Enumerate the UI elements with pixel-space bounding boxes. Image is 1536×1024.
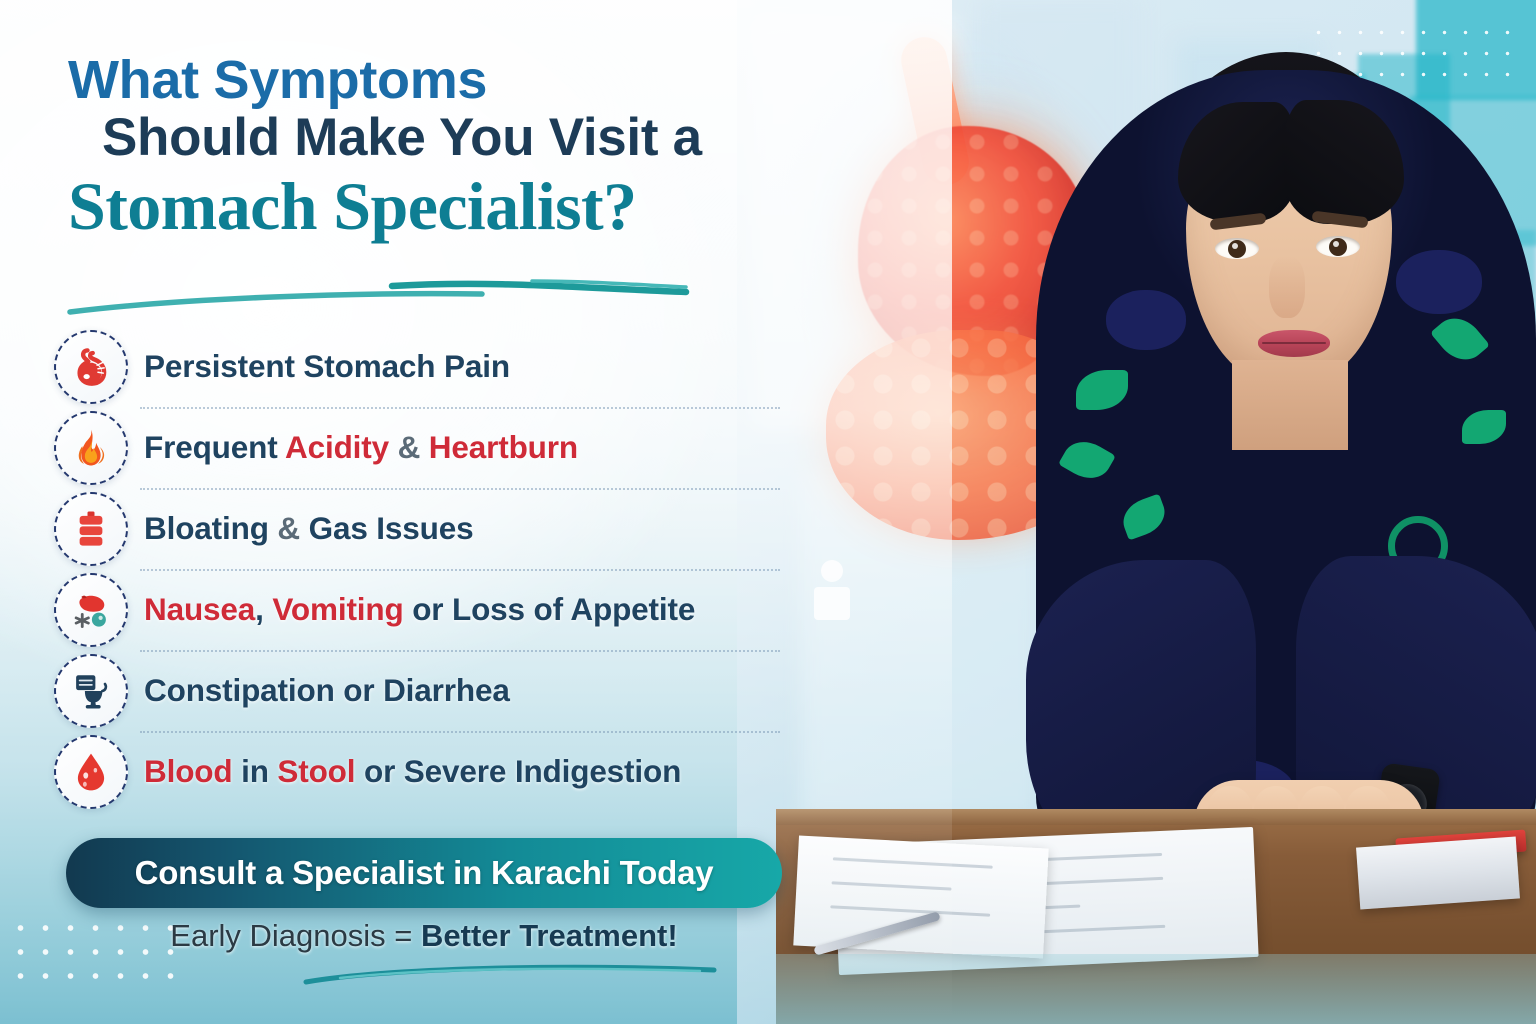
promo-banner: What Symptoms Should Make You Visit a St… — [0, 0, 1536, 1024]
lips — [1258, 330, 1330, 357]
scarf-motif — [1076, 370, 1128, 410]
symptom-row[interactable]: Persistent Stomach Pain — [54, 326, 814, 407]
tagline: Early Diagnosis = Better Treatment! — [66, 918, 782, 954]
symptom-row[interactable]: Bloating & Gas Issues — [54, 488, 814, 569]
consult-specialist-button[interactable]: Consult a Specialist in Karachi Today — [66, 838, 782, 908]
content-column: What Symptoms Should Make You Visit a St… — [0, 0, 830, 1024]
gas-cylinder-icon — [54, 492, 128, 566]
headline-underline-flourish — [62, 278, 692, 320]
symptom-row[interactable]: Constipation or Diarrhea — [54, 650, 814, 731]
headline-line-3: Stomach Specialist? — [68, 170, 828, 242]
iris — [1329, 238, 1347, 256]
scarf-motif — [1462, 410, 1506, 444]
tagline-strong: Better Treatment! — [421, 918, 678, 953]
headline-line-2: Should Make You Visit a — [102, 108, 828, 167]
headline-block: What Symptoms Should Make You Visit a St… — [68, 52, 828, 242]
symptom-label: Bloating & Gas Issues — [144, 510, 473, 547]
flame-icon — [54, 411, 128, 485]
iris — [1228, 240, 1246, 258]
symptom-list: Persistent Stomach Pain Frequent Acidity… — [54, 326, 814, 812]
blood-drop-icon — [54, 735, 128, 809]
lip-line — [1262, 342, 1326, 344]
cta-label: Consult a Specialist in Karachi Today — [135, 854, 714, 892]
tagline-flourish — [300, 962, 720, 988]
stomach-icon — [54, 330, 128, 404]
doctor-photo — [1026, 40, 1536, 940]
scarf-motif — [1058, 433, 1116, 487]
symptom-label: Blood in Stool or Severe Indigestion — [144, 753, 681, 790]
headline-line-1: What Symptoms — [68, 52, 828, 108]
nose — [1269, 256, 1305, 318]
scarf-motif — [1118, 494, 1171, 541]
symptom-row[interactable]: Blood in Stool or Severe Indigestion — [54, 731, 814, 812]
symptom-label: Constipation or Diarrhea — [144, 672, 510, 709]
eye-right — [1316, 236, 1360, 257]
symptom-row[interactable]: Nausea, Vomiting or Loss of Appetite — [54, 569, 814, 650]
symptom-row[interactable]: Frequent Acidity & Heartburn — [54, 407, 814, 488]
scarf-motif — [1106, 290, 1186, 350]
paper-stack — [1356, 836, 1520, 909]
tagline-light: Early Diagnosis = — [170, 918, 421, 953]
toilet-icon — [54, 654, 128, 728]
neck — [1232, 360, 1348, 450]
nausea-icon — [54, 573, 128, 647]
symptom-label: Frequent Acidity & Heartburn — [144, 429, 578, 466]
eye-left — [1215, 238, 1259, 259]
symptom-label: Persistent Stomach Pain — [144, 348, 510, 385]
symptom-label: Nausea, Vomiting or Loss of Appetite — [144, 591, 695, 628]
scarf-motif — [1430, 308, 1490, 369]
scarf-motif — [1396, 250, 1482, 314]
